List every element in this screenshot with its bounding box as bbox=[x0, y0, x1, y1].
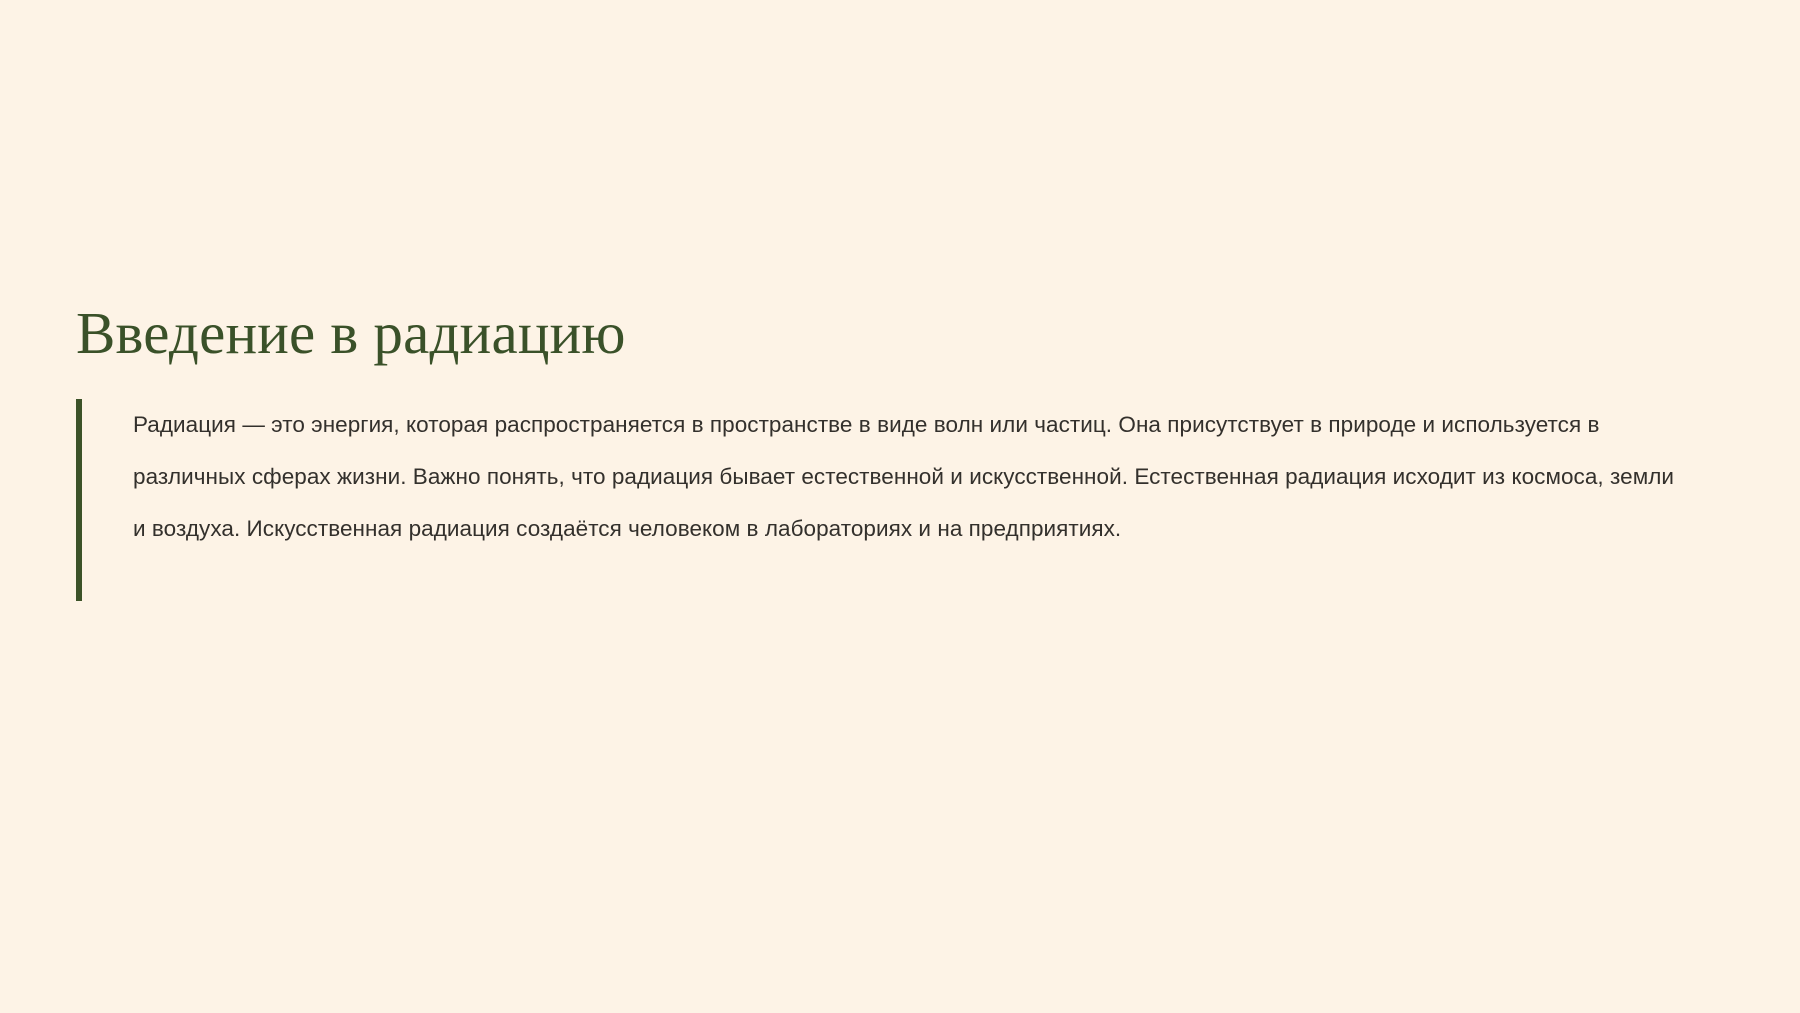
slide-canvas: Введение в радиацию Радиация — это энерг… bbox=[0, 0, 1800, 1013]
page-title: Введение в радиацию bbox=[76, 300, 1716, 366]
quote-accent-bar bbox=[76, 399, 82, 601]
body-paragraph: Радиация — это энергия, которая распрост… bbox=[133, 399, 1688, 555]
content-block: Введение в радиацию Радиация — это энерг… bbox=[76, 300, 1716, 555]
quote-block: Радиация — это энергия, которая распрост… bbox=[76, 399, 1716, 555]
